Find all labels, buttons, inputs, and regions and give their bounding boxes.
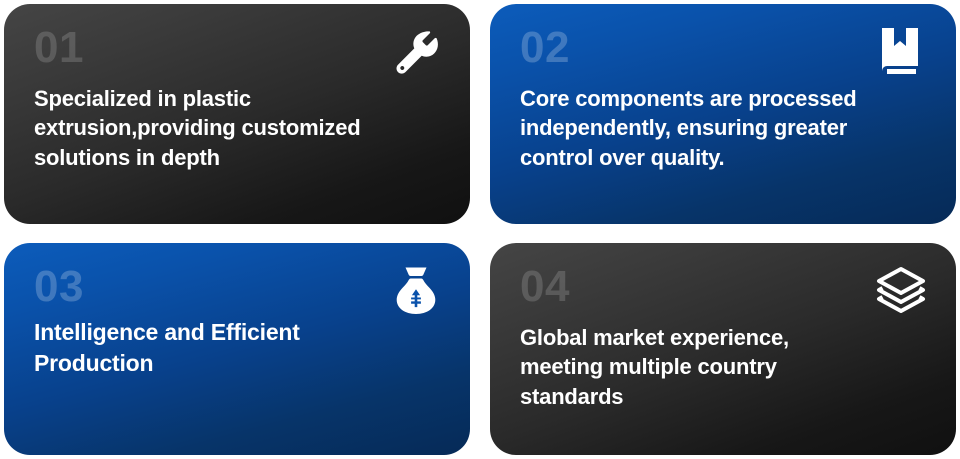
card-text-01: Specialized in plastic extrusion,providi…: [34, 84, 440, 172]
card-text-02: Core components are processed independen…: [520, 84, 926, 172]
card-text-03: Intelligence and Efficient Production: [34, 317, 440, 378]
card-content-01: 01 Specialized in plastic extrusion,prov…: [4, 4, 470, 224]
card-content-02: 02 Core components are processed indepen…: [490, 4, 956, 224]
card-content-03: 03 Intelligence and Efficient Production: [4, 243, 470, 455]
wrench-icon: [384, 26, 442, 84]
feature-card-04[interactable]: 04 Global market experience, meeting mul…: [490, 243, 956, 455]
money-bag-yen-icon: [384, 265, 442, 323]
card-number-04: 04: [520, 265, 926, 309]
feature-card-03[interactable]: 03 Intelligence and Efficient Production: [4, 243, 470, 455]
layers-stack-icon: [870, 265, 928, 323]
card-content-04: 04 Global market experience, meeting mul…: [490, 243, 956, 455]
card-number-01: 01: [34, 26, 440, 70]
feature-card-grid: 01 Specialized in plastic extrusion,prov…: [0, 0, 960, 459]
card-number-03: 03: [34, 265, 440, 309]
card-text-04: Global market experience, meeting multip…: [520, 323, 926, 411]
card-number-02: 02: [520, 26, 926, 70]
book-bookmark-icon: [870, 26, 928, 84]
feature-card-01[interactable]: 01 Specialized in plastic extrusion,prov…: [4, 4, 470, 224]
feature-card-02[interactable]: 02 Core components are processed indepen…: [490, 4, 956, 224]
